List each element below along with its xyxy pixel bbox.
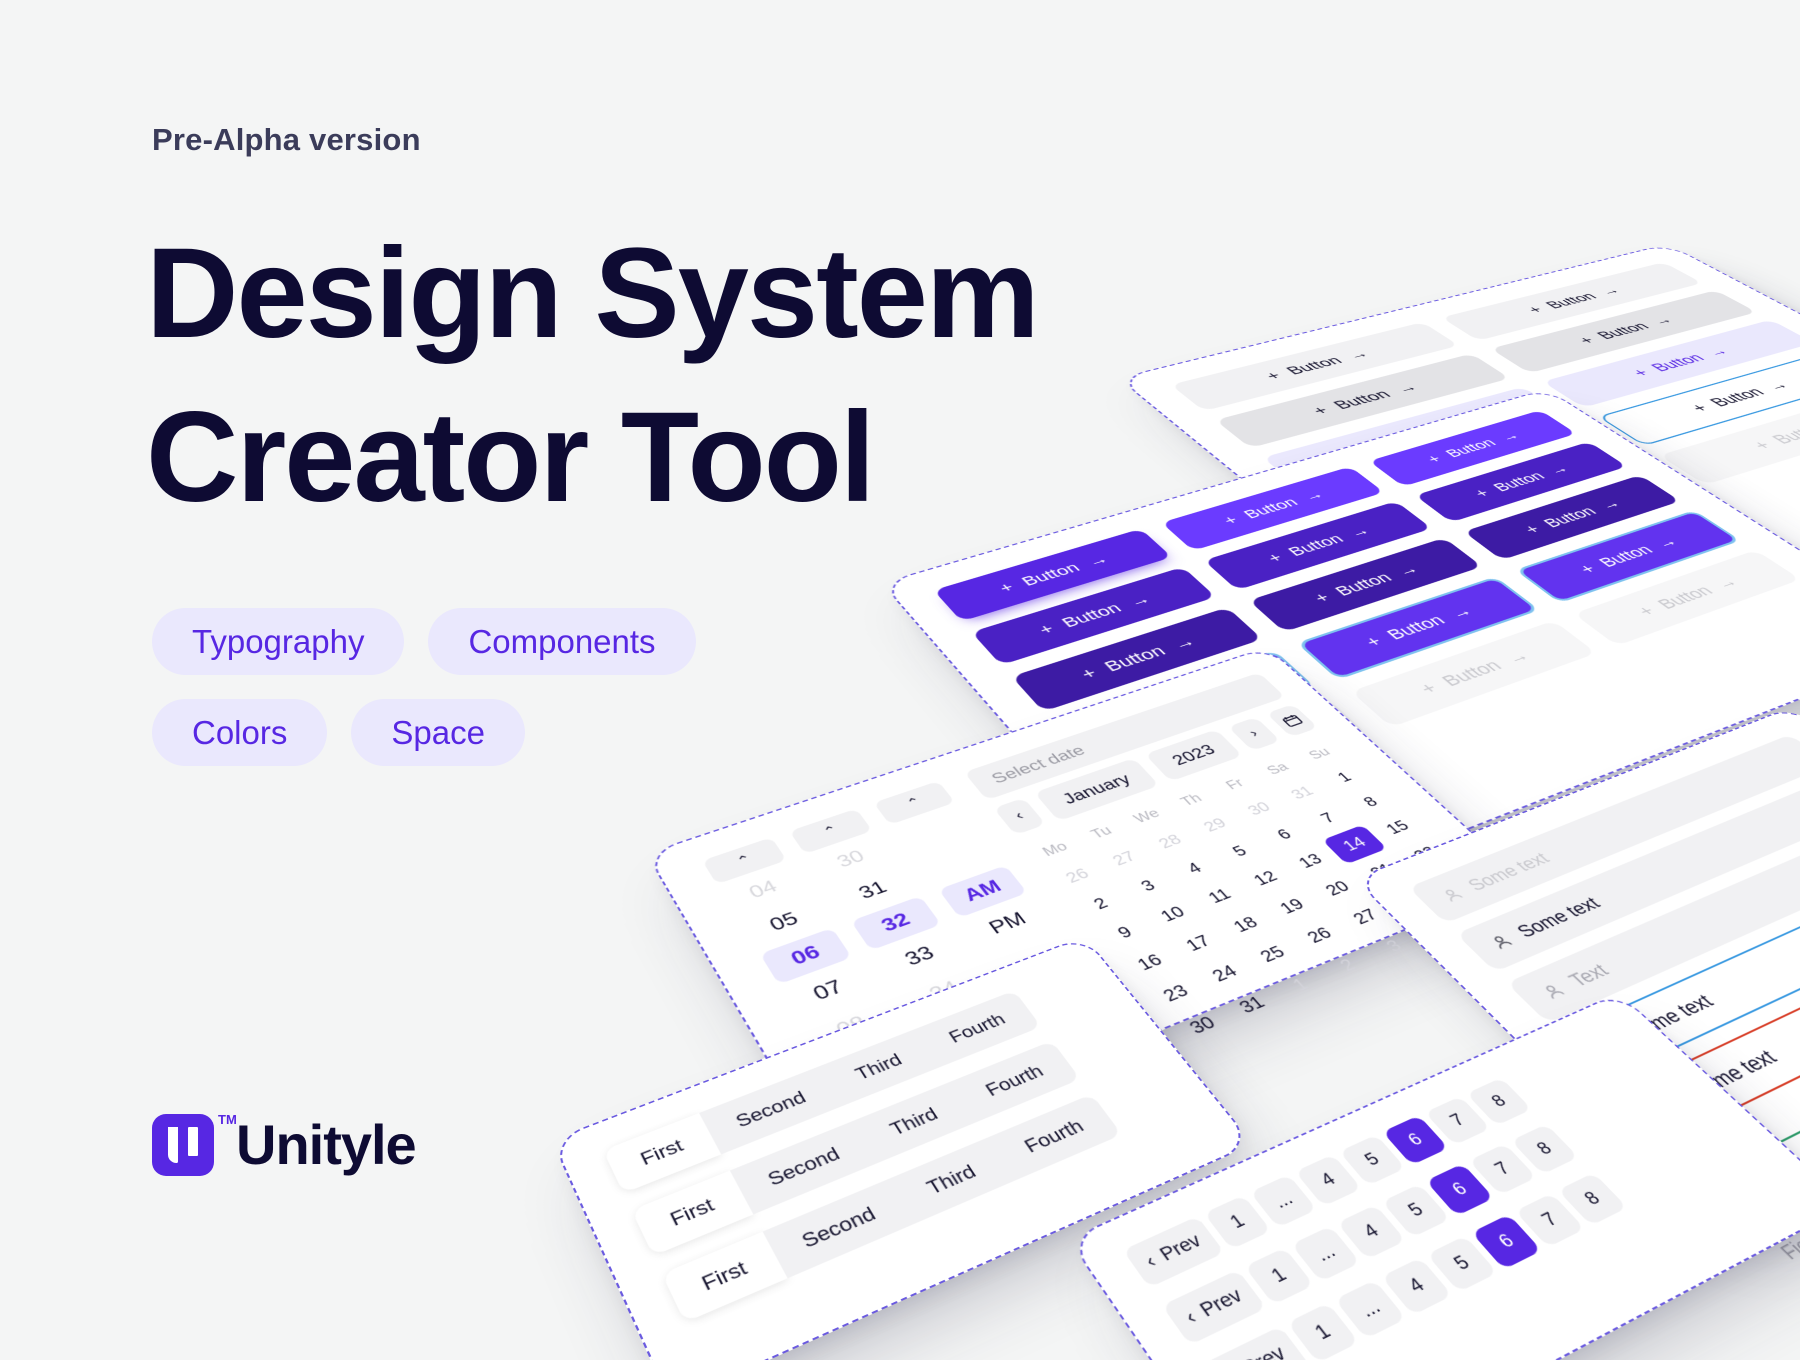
button-label: Button	[1647, 351, 1710, 374]
arrow-right-icon: →	[1762, 379, 1792, 392]
arrow-right-icon: →	[1084, 553, 1112, 568]
button-label: Button	[1382, 612, 1450, 643]
button-label: Button	[1594, 542, 1658, 570]
plus-icon: +	[1262, 370, 1285, 382]
prev-page-button[interactable]: ‹Prev	[1123, 1216, 1225, 1288]
brand-logo: TM Unityle	[152, 1112, 416, 1177]
hero-content: Pre-Alpha version Design System Creator …	[152, 0, 1052, 1360]
button-label: Button	[1240, 495, 1303, 521]
page-title-line-2: Creator Tool	[146, 376, 1066, 540]
tag-colors[interactable]: Colors	[152, 699, 327, 766]
brand-name: Unityle	[236, 1112, 416, 1177]
chevron-left-icon: ‹	[1181, 1307, 1201, 1330]
page-title-line-1: Design System	[146, 212, 1066, 376]
plus-icon: +	[1524, 305, 1547, 315]
arrow-right-icon: →	[1648, 315, 1676, 327]
trademark-mark: TM	[218, 1112, 237, 1127]
arrow-right-icon: →	[1545, 463, 1573, 476]
arrow-right-icon: →	[1596, 497, 1625, 511]
arrow-right-icon: →	[1652, 535, 1682, 550]
user-icon	[1537, 980, 1570, 1003]
prev-label: Prev	[1156, 1230, 1206, 1265]
button-label: Button	[1489, 469, 1550, 494]
button-label: Button	[1767, 421, 1800, 447]
user-icon	[1437, 885, 1468, 905]
logo-bar-left	[168, 1127, 178, 1163]
button-label: Button	[1437, 657, 1507, 690]
page-title: Design System Creator Tool	[146, 212, 1066, 540]
button-label: Button	[1539, 504, 1601, 531]
plus-icon: +	[1310, 591, 1334, 606]
plus-icon: +	[1220, 514, 1242, 527]
tag-space[interactable]: Space	[351, 699, 525, 766]
arrow-right-icon: →	[1596, 286, 1623, 297]
tag-typography[interactable]: Typography	[152, 608, 404, 675]
plus-icon: +	[1687, 402, 1713, 414]
button-label: Button	[1542, 291, 1602, 312]
prev-label: Prev	[1238, 1342, 1291, 1360]
button-label: Button	[1282, 354, 1346, 377]
arrow-right-icon: →	[1393, 562, 1422, 578]
logo-bar-right	[188, 1127, 198, 1156]
tag-components[interactable]: Components	[428, 608, 695, 675]
arrow-right-icon: →	[1169, 634, 1199, 651]
prev-label: Prev	[1196, 1285, 1248, 1322]
plus-icon: +	[1634, 604, 1660, 619]
arrow-right-icon: →	[1446, 604, 1476, 621]
plus-icon: +	[1416, 680, 1442, 697]
plus-icon: +	[1077, 666, 1101, 682]
button-label: Button	[1284, 531, 1348, 559]
input-value: Some text	[1512, 893, 1606, 941]
plus-icon: +	[1521, 523, 1545, 536]
tag-list: Typography Components Colors Space	[152, 608, 792, 766]
chevron-left-icon: ‹	[1141, 1251, 1160, 1272]
plus-icon: +	[1264, 551, 1287, 565]
arrow-right-icon: →	[1392, 381, 1421, 394]
arrow-right-icon: →	[1300, 489, 1327, 503]
arrow-right-icon: →	[1711, 575, 1742, 591]
button-label: Button	[1652, 583, 1718, 613]
button-label: Button	[1329, 387, 1395, 412]
arrow-right-icon: →	[1496, 430, 1523, 443]
button-label: Button	[1705, 385, 1770, 409]
arrow-right-icon: →	[1502, 648, 1534, 666]
plus-icon: +	[1576, 562, 1601, 576]
next-month-icon[interactable]: ›	[1228, 717, 1280, 751]
plus-icon: +	[1362, 634, 1387, 650]
button-label: Button	[1593, 320, 1654, 342]
input-value: Some text	[1463, 849, 1555, 895]
button-label: Button	[1100, 643, 1170, 676]
plus-icon: +	[1749, 439, 1776, 452]
prev-page-button-2[interactable]: ‹Prev	[1162, 1270, 1267, 1346]
button-label: Button	[1331, 570, 1397, 599]
plus-icon: +	[1629, 367, 1654, 379]
plus-icon: +	[1309, 404, 1333, 417]
arrow-right-icon: →	[1125, 592, 1154, 608]
plus-icon: +	[1423, 453, 1445, 465]
user-icon	[1485, 931, 1517, 953]
poster-canvas: Pre-Alpha version Design System Creator …	[0, 0, 1800, 1360]
plus-icon: +	[1575, 335, 1599, 346]
version-eyebrow: Pre-Alpha version	[152, 122, 421, 158]
arrow-right-icon: →	[1703, 346, 1732, 358]
calendar-icon[interactable]	[1266, 704, 1318, 737]
input-placeholder-text: Text	[1564, 960, 1615, 991]
plus-icon: +	[1471, 487, 1494, 500]
arrow-right-icon: →	[1345, 524, 1373, 539]
pagination-row-3: ‹Prev 1 ... 4 5 6 7 8	[1203, 1116, 1744, 1360]
button-label: Button	[1441, 436, 1500, 460]
button-label: Button	[1058, 600, 1126, 631]
unityle-logo-icon: TM	[152, 1114, 214, 1176]
arrow-right-icon: →	[1344, 348, 1372, 361]
